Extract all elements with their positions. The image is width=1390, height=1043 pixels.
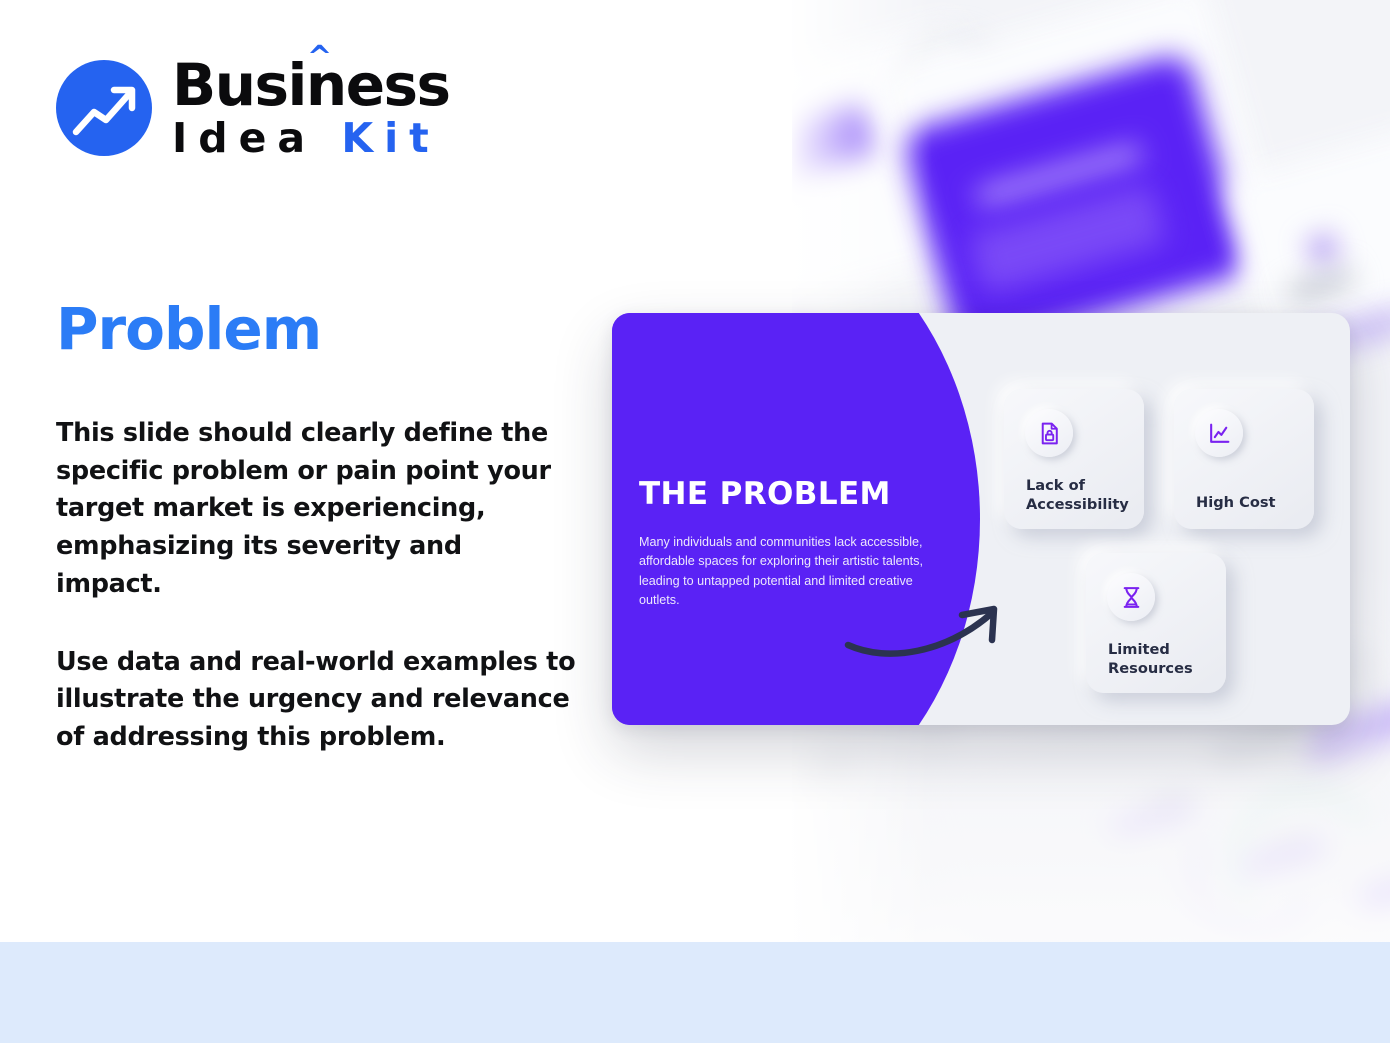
feature-card-high-cost[interactable]: High Cost xyxy=(1174,389,1314,529)
brand-name-kit: Kit xyxy=(341,114,439,162)
feature-card-label: Limited Resources xyxy=(1108,641,1226,678)
slide-preview-card[interactable]: THE PROBLEM Many individuals and communi… xyxy=(612,313,1350,725)
bottom-accent-band xyxy=(0,942,1390,1043)
curved-arrow-up-right-icon xyxy=(842,593,1022,663)
brand-name-secondary: Idea Kit xyxy=(172,118,450,159)
page-title: Problem xyxy=(56,295,321,363)
brand-logo[interactable]: Business ^ Idea Kit xyxy=(56,56,450,159)
line-chart-icon xyxy=(1195,409,1243,457)
brand-name-idea: Idea xyxy=(172,114,341,162)
brand-name-primary: Business ^ xyxy=(172,56,450,114)
feature-card-limited-resources[interactable]: Limited Resources xyxy=(1086,553,1226,693)
feature-card-lack-of-accessibility[interactable]: Lack of Accessibility xyxy=(1004,389,1144,529)
document-lock-icon xyxy=(1025,409,1073,457)
body-copy: This slide should clearly define the spe… xyxy=(56,415,576,757)
feature-card-label: Lack of Accessibility xyxy=(1026,477,1144,514)
hourglass-icon xyxy=(1107,573,1155,621)
slide-preview-heading: THE PROBLEM xyxy=(639,476,939,512)
feature-card-label: High Cost xyxy=(1196,494,1314,513)
body-paragraph-1: This slide should clearly define the spe… xyxy=(56,415,576,604)
growth-arrow-chart-icon xyxy=(56,60,152,156)
purple-circle-shape xyxy=(612,313,980,725)
body-paragraph-2: Use data and real-world examples to illu… xyxy=(56,644,576,757)
slide-canvas: Business ^ Idea Kit Problem This slide s… xyxy=(0,0,1390,1043)
brand-circumflex-accent: ^ xyxy=(307,43,331,73)
